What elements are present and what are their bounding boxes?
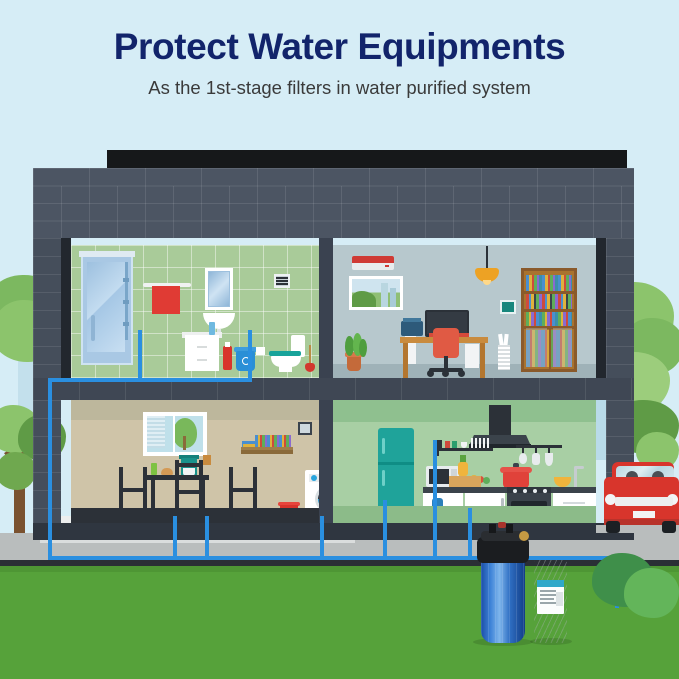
plunger-handle-icon (309, 345, 311, 365)
bookshelf-door-divider (549, 326, 551, 369)
car-wheel-icon (662, 521, 676, 533)
whisk-icon (545, 453, 553, 466)
window-divider (173, 416, 175, 452)
kitchen-floor (333, 506, 596, 523)
roof-cap (107, 150, 627, 168)
kitchen-wall-shelf-icon (435, 448, 493, 451)
plant-leaf-icon (359, 339, 367, 357)
fruit-tray-icon (449, 476, 481, 487)
page-subtitle: As the 1st-stage filters in water purifi… (0, 67, 679, 99)
book-row (526, 312, 572, 326)
cartridge-label-line (540, 590, 556, 592)
bookshelf-glass-door (553, 328, 572, 367)
vanity-cabinet-icon (185, 335, 219, 371)
spice-jar-icon (437, 440, 442, 448)
cabinet-handle-icon (197, 346, 207, 348)
refrigerator-divider (378, 462, 414, 465)
table-leg (151, 480, 155, 508)
dining-chair-icon (199, 460, 203, 508)
chair-wheel-icon (427, 370, 434, 377)
wall-column (61, 238, 71, 378)
window-tree-trunk (183, 436, 186, 450)
refrigerator-handle-icon (382, 438, 385, 454)
toilet-paper-icon (256, 347, 265, 355)
car-grille (615, 497, 673, 506)
painting-building (390, 288, 396, 307)
air-conditioner-top (352, 256, 394, 263)
cartridge-label-header (537, 580, 564, 587)
red-towel-icon (152, 286, 180, 314)
cartridge-label-line (540, 598, 554, 600)
range-hood-duct-icon (489, 405, 511, 439)
bush-foliage-icon (624, 568, 679, 618)
dining-chair-seat (229, 488, 257, 492)
water-pipe-vertical (248, 330, 252, 382)
dish-rack-icon (471, 438, 491, 448)
cabinet-handle-icon (197, 359, 207, 361)
bottle-cap-icon (225, 342, 230, 347)
water-pipe-vertical (173, 516, 177, 560)
scene-canvas: Protect Water Equipments As the 1st-stag… (0, 0, 679, 679)
sink-faucet-spout (574, 466, 584, 469)
pressure-release-button-icon (498, 522, 506, 528)
house-cutaway (33, 150, 634, 540)
air-conditioner-led (385, 265, 389, 267)
shower-knob-icon (123, 278, 129, 282)
dining-chair-icon (175, 460, 179, 508)
pendant-lamp-cord (486, 246, 488, 268)
book-row (526, 275, 572, 291)
wall-column (596, 238, 606, 378)
shower-knob-icon (123, 322, 129, 326)
bookshelf-glass-door (526, 328, 547, 367)
refrigerator-handle-icon (382, 470, 385, 486)
roof-brick-pattern (61, 186, 634, 239)
water-pipe-vertical (468, 508, 472, 560)
chair-wheel-icon (458, 370, 465, 377)
painting-building (381, 283, 388, 307)
car-wheel-icon (606, 521, 620, 533)
paper-stack-icon (465, 344, 479, 368)
spatula-icon (532, 453, 540, 465)
dining-floor (71, 508, 319, 523)
filter-cap-port-icon (489, 524, 496, 533)
dining-chair-seat (175, 490, 203, 494)
cartridge-label-box (556, 592, 563, 606)
water-pipe-vertical (320, 516, 324, 560)
cooking-pot-icon (503, 472, 529, 488)
lawn-shade-strip (0, 566, 679, 572)
sink-faucet-icon (574, 468, 577, 487)
center-pillar (319, 238, 333, 378)
center-pillar (319, 400, 333, 523)
printer-tray-icon (403, 318, 421, 322)
water-pipe-vertical (205, 516, 209, 560)
fruit-icon (483, 477, 490, 484)
cabinet-handle-icon (563, 502, 585, 504)
washing-machine-knob-icon (311, 475, 317, 481)
kitchen-upper-wall (333, 400, 596, 422)
toilet-lid-icon (269, 351, 301, 356)
book-row (526, 294, 572, 309)
mirror-reflection (209, 272, 229, 306)
dining-chair-rail (175, 463, 203, 467)
cup-icon (461, 442, 467, 448)
brass-fitting-icon (519, 531, 529, 541)
lawn-ground (0, 566, 679, 679)
shelf-book-row (255, 435, 291, 447)
painting-hill (352, 291, 376, 307)
bread-icon (161, 468, 173, 475)
water-pipe-vertical (48, 378, 52, 560)
small-frame-image (502, 302, 514, 312)
chair-wheel-icon (442, 370, 449, 377)
spice-jar-icon (445, 441, 450, 448)
water-pipe-vertical (138, 330, 142, 382)
printer-icon (401, 321, 423, 336)
dining-chair-seat (119, 488, 147, 492)
water-pipe-vertical (433, 440, 437, 560)
pineapple-icon (458, 462, 468, 476)
window-blind-icon (147, 416, 165, 448)
shelf-book-stack (243, 444, 255, 447)
filter-housing-ribs (481, 557, 525, 643)
page-title: Protect Water Equipments (0, 0, 679, 67)
cartridge-label-line (540, 602, 557, 604)
wall-frame-image (300, 424, 310, 433)
desk-leg (403, 343, 408, 383)
desk-leg (480, 343, 485, 383)
filter-cap-port-icon (506, 524, 513, 533)
plant-pot-icon (347, 355, 361, 371)
water-pipe-vertical (383, 500, 387, 560)
spice-jar-icon (452, 441, 457, 448)
header: Protect Water Equipments As the 1st-stag… (0, 0, 679, 120)
shower-rail-icon (79, 251, 135, 257)
cleaner-bottle-icon (223, 346, 232, 370)
soap-bottle-icon (209, 322, 215, 335)
microwave-door (429, 469, 449, 484)
water-pipe-horizontal (48, 378, 252, 382)
deer-figurine-icon (203, 455, 211, 465)
paper-bin-icon (498, 345, 510, 370)
wall-shelf-edge (241, 450, 293, 454)
car-license-plate (633, 511, 655, 518)
ladle-icon (519, 453, 527, 464)
toilet-base-icon (279, 366, 292, 372)
shower-handle-icon (91, 315, 95, 341)
wall-vent-louvres (276, 276, 288, 286)
house-base-slab (33, 523, 634, 540)
shower-knob-icon (123, 300, 129, 304)
green-bottle-icon (151, 463, 157, 475)
